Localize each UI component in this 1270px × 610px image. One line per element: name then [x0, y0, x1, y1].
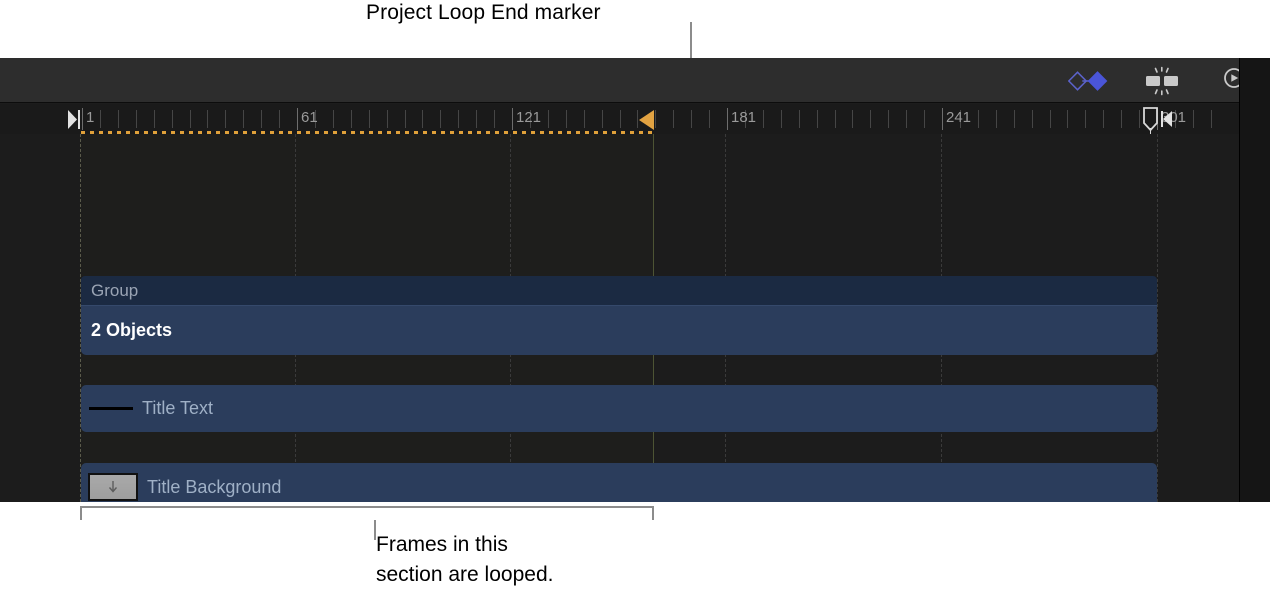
ruler-tick-label: 241: [946, 109, 971, 126]
track-label-objects: 2 Objects: [81, 320, 172, 341]
ruler-tick: [1014, 110, 1015, 128]
ruler-tick: [154, 110, 155, 128]
ruler-tick: [924, 110, 925, 128]
ruler-ticks: 161121181241301: [0, 104, 1270, 134]
ruler-tick: [422, 110, 423, 128]
ruler-tick: [279, 110, 280, 128]
gridline-301: [1157, 134, 1158, 502]
ruler-tick: [602, 110, 603, 128]
ruler-tick: [369, 110, 370, 128]
ruler-tick: [620, 110, 621, 128]
ruler-tick: [835, 110, 836, 128]
callout-label-frames-looped: Frames in this section are looped.: [376, 530, 553, 590]
ruler-tick: [781, 110, 782, 128]
ruler-tick: [207, 110, 208, 128]
ruler-tick: [996, 110, 997, 128]
ruler-tick: [888, 110, 889, 128]
ruler-tick: [172, 110, 173, 128]
ruler-tick: [799, 110, 800, 128]
play-direction-icon[interactable]: [1161, 111, 1173, 127]
ruler-tick-major: [942, 108, 943, 130]
ruler-tick: [476, 110, 477, 128]
ruler-tick: [691, 110, 692, 128]
track-bar-title-background[interactable]: Title Background: [81, 463, 1157, 502]
ruler-tick: [1067, 110, 1068, 128]
ruler-tick: [261, 110, 262, 128]
ruler-tick: [852, 110, 853, 128]
ruler-tick-major: [297, 108, 298, 130]
ruler-tick: [978, 110, 979, 128]
ruler-tick: [440, 110, 441, 128]
ruler-tick: [136, 110, 137, 128]
ruler-tick: [100, 110, 101, 128]
track-label-title-background: Title Background: [147, 477, 281, 498]
ruler-tick: [817, 110, 818, 128]
ruler-tick: [494, 110, 495, 128]
ruler-tick-major: [727, 108, 728, 130]
show-hide-timeline-icon[interactable]: [1142, 65, 1182, 97]
ruler-tick: [225, 110, 226, 128]
ruler-tick: [387, 110, 388, 128]
track-bar-group[interactable]: Group: [81, 276, 1157, 305]
timeline-panel: 161121181241301: [0, 58, 1270, 502]
ruler-tick: [351, 110, 352, 128]
ruler-tick: [870, 110, 871, 128]
ruler-tick: [1211, 110, 1212, 128]
ruler-tick-label: 61: [301, 109, 318, 126]
ruler-tick: [763, 110, 764, 128]
ruler-tick-label: 1: [86, 109, 94, 126]
ruler-tick: [906, 110, 907, 128]
ruler-tick: [190, 110, 191, 128]
callout-label-project-loop-end: Project Loop End marker: [366, 1, 601, 25]
ruler-tick: [709, 110, 710, 128]
ruler-tick: [333, 110, 334, 128]
ruler-tick: [118, 110, 119, 128]
ruler-tick: [548, 110, 549, 128]
timeline-toolbar-buttons: [1068, 58, 1256, 103]
ruler-tick: [1121, 110, 1122, 128]
loop-start-marker[interactable]: [68, 109, 81, 130]
ruler-tick: [655, 110, 656, 128]
ruler-tick: [584, 110, 585, 128]
keyframe-icon[interactable]: [1068, 65, 1108, 97]
ruler-tick-label: 181: [731, 109, 756, 126]
ruler-tick: [1050, 110, 1051, 128]
thumbnail-icon: [88, 473, 138, 501]
track-bar-objects[interactable]: 2 Objects: [81, 305, 1157, 355]
track-label-group: Group: [81, 281, 138, 301]
ruler-tick-major: [512, 108, 513, 130]
ruler-tick-major: [82, 108, 83, 130]
ruler-tick: [405, 110, 406, 128]
ruler-tick: [1032, 110, 1033, 128]
line-icon: [89, 407, 133, 410]
ruler-tick-label: 121: [516, 109, 541, 126]
ruler-tick: [673, 110, 674, 128]
loop-end-marker[interactable]: [638, 110, 654, 130]
ruler-tick: [1103, 110, 1104, 128]
ruler-tick: [1085, 110, 1086, 128]
timeline-ruler[interactable]: 161121181241301: [0, 104, 1270, 134]
screenshot-root: Project Loop End marker: [0, 0, 1270, 610]
ruler-tick: [1193, 110, 1194, 128]
ruler-tick: [458, 110, 459, 128]
timeline-toolbar: [0, 58, 1270, 103]
ruler-tick: [243, 110, 244, 128]
ruler-tick: [1139, 110, 1140, 128]
loop-region-bracket: [80, 506, 654, 520]
ruler-tick: [566, 110, 567, 128]
timeline-right-scroll-column[interactable]: [1239, 58, 1270, 502]
track-bar-title-text[interactable]: Title Text: [81, 385, 1157, 432]
track-label-title-text: Title Text: [142, 398, 213, 419]
timeline-track-area[interactable]: Group 2 Objects Title Text Title Ba: [0, 134, 1270, 502]
